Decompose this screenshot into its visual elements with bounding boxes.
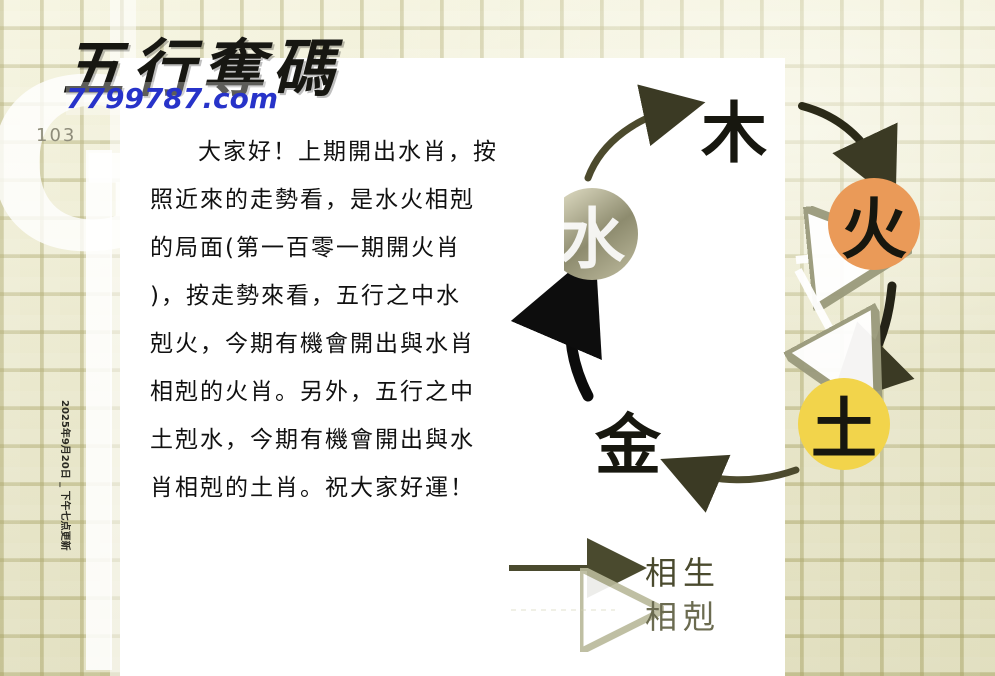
element-water-label: 水: [559, 186, 625, 282]
date-stamp: 2025年9月20日 _ 下午七点更新: [60, 400, 74, 560]
article-line: 的局面(第一百零一期開火肖: [150, 224, 510, 272]
element-metal-label: 金: [595, 392, 661, 488]
element-wood-label: 木: [701, 80, 767, 176]
page-number: 103: [36, 125, 76, 146]
article-line: 照近來的走勢看，是水火相剋: [150, 176, 510, 224]
article-line: 剋火，今期有機會開出與水肖: [150, 320, 510, 368]
element-metal: 金: [582, 394, 674, 486]
legend-hollow-arrow-icon: [505, 596, 645, 626]
arc-earth-to-metal: [686, 470, 796, 480]
element-fire: 火: [828, 178, 920, 270]
five-elements-diagram: 木 火 土 金 水: [510, 78, 980, 508]
legend-solid-arrow-icon: [505, 554, 645, 584]
site-domain-label: 7799787.com: [66, 82, 278, 115]
element-earth: 土: [798, 378, 890, 470]
watermark-vertical-bar: [86, 150, 112, 670]
article-line: 肖相剋的土肖。祝大家好運！: [150, 464, 510, 512]
legend-generating-label: 相生: [645, 548, 721, 594]
article-line: 土剋水，今期有機會開出與水: [150, 416, 510, 464]
element-earth-label: 土: [811, 376, 877, 472]
arc-metal-to-water: [571, 290, 588, 396]
element-fire-label: 火: [841, 176, 907, 272]
article-line: 相剋的火肖。另外，五行之中: [150, 368, 510, 416]
arc-wood-to-fire: [802, 106, 882, 174]
arc-fire-to-earth: [854, 286, 892, 382]
article-body: 大家好！上期開出水肖，按 照近來的走勢看，是水火相剋 的局面(第一百零一期開火肖…: [150, 128, 510, 512]
diagram-legend: 相生 相剋: [505, 552, 755, 652]
legend-row-generating: 相生: [505, 552, 755, 596]
arc-water-to-wood: [588, 108, 678, 178]
legend-row-overcoming: 相剋: [505, 596, 755, 640]
arrow-fire-overcomes-metal: [798, 270, 852, 370]
article-line: )，按走勢來看，五行之中水: [150, 272, 510, 320]
element-wood: 木: [688, 82, 780, 174]
legend-overcoming-label: 相剋: [645, 592, 721, 638]
article-line: 大家好！上期開出水肖，按: [150, 128, 510, 176]
